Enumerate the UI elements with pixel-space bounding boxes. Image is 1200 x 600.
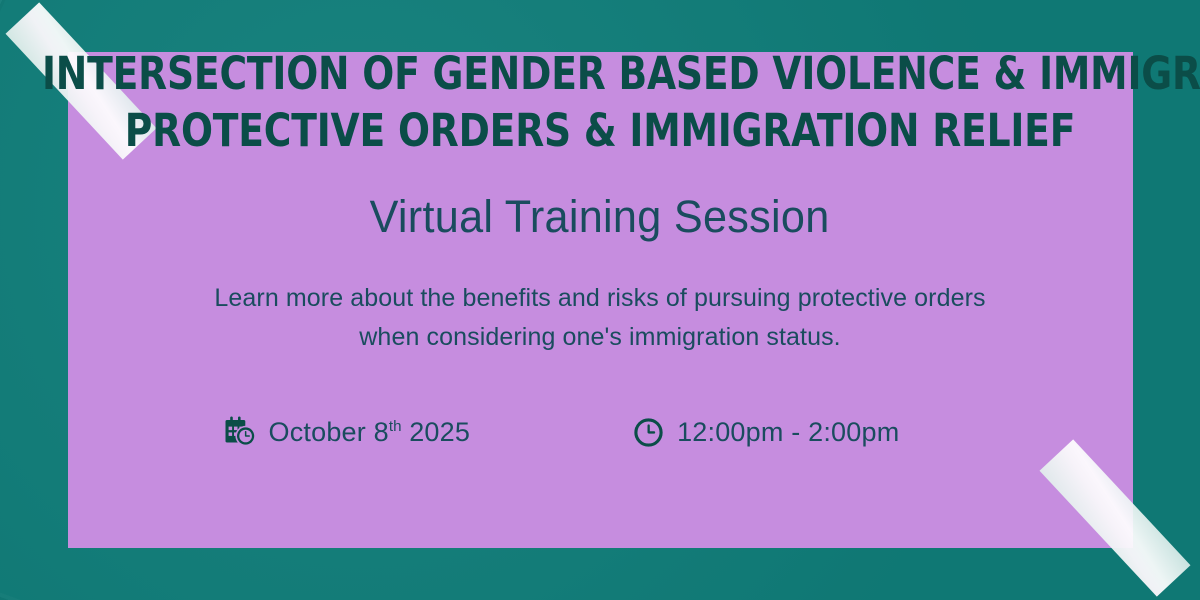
title-line-1: INTERSECTION OF GENDER BASED VIOLENCE & … <box>42 45 1158 102</box>
description: Learn more about the benefits and risks … <box>150 279 1050 357</box>
description-line-2: when considering one's immigration statu… <box>150 318 1050 357</box>
clock-icon <box>631 415 665 449</box>
event-flyer: INTERSECTION OF GENDER BASED VIOLENCE & … <box>0 0 1200 600</box>
event-date-year: 2025 <box>409 417 470 447</box>
event-time: 12:00pm - 2:00pm <box>631 415 899 449</box>
event-date-text: October 8th 2025 <box>269 417 471 448</box>
event-details: October 8th 2025 12:00pm - 2:00pm <box>68 415 1133 449</box>
event-time-text: 12:00pm - 2:00pm <box>677 417 899 448</box>
title-line-2: PROTECTIVE ORDERS & IMMIGRATION RELIEF <box>42 102 1158 159</box>
event-date: October 8th 2025 <box>223 415 471 449</box>
flyer-content: INTERSECTION OF GENDER BASED VIOLENCE & … <box>0 0 1200 600</box>
subtitle: Virtual Training Session <box>370 191 830 243</box>
calendar-clock-icon <box>223 415 257 449</box>
event-date-ordinal: th <box>389 418 402 435</box>
page-title: INTERSECTION OF GENDER BASED VIOLENCE & … <box>42 45 1158 159</box>
event-date-monthday: October 8 <box>269 417 389 447</box>
description-line-1: Learn more about the benefits and risks … <box>150 279 1050 318</box>
